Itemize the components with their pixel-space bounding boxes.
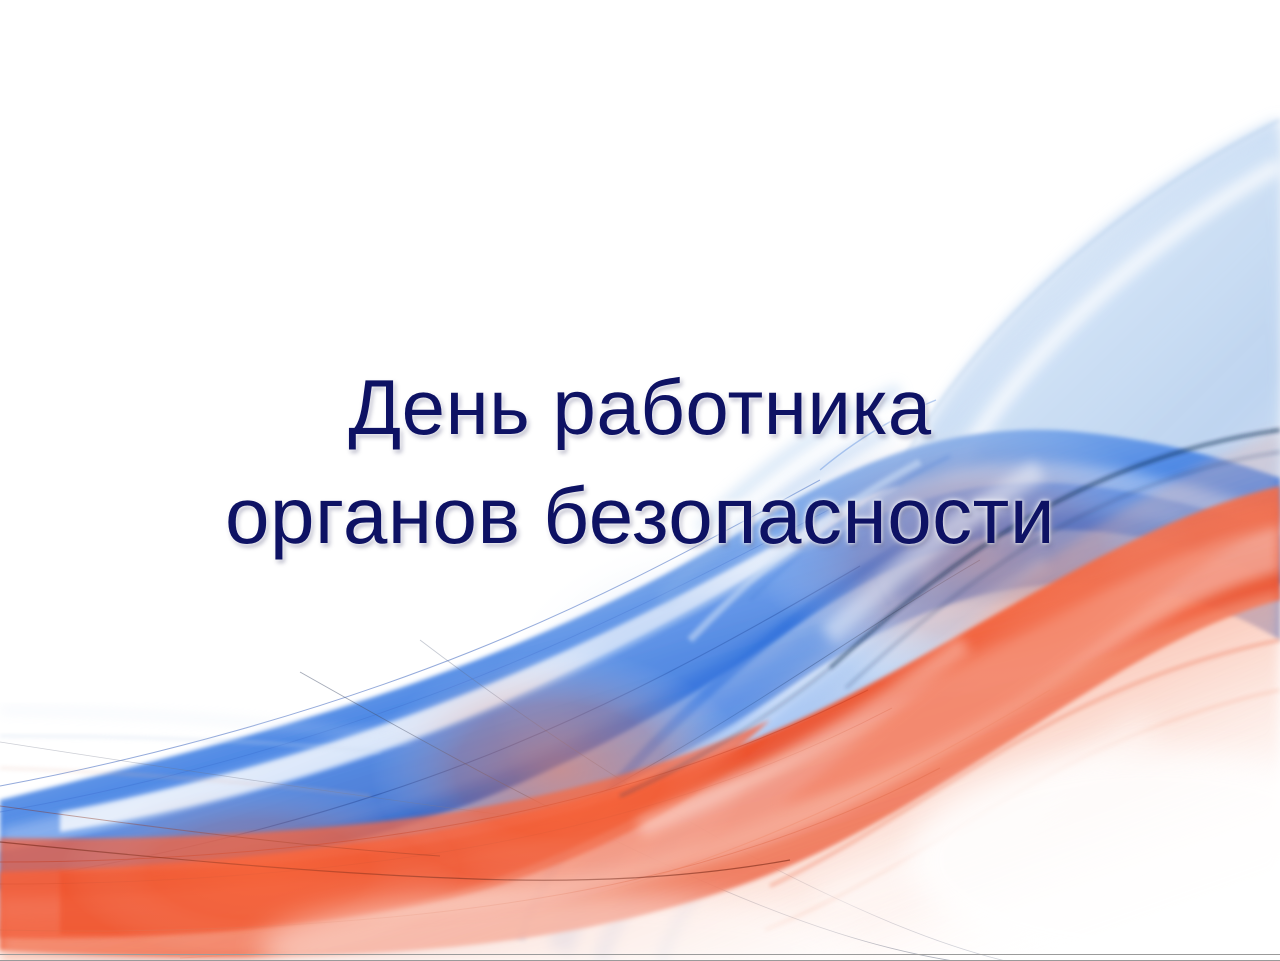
abstract-wave-background	[0, 0, 1280, 961]
presentation-slide: День работника органов безопасности	[0, 0, 1280, 961]
bottom-divider	[0, 954, 1280, 955]
